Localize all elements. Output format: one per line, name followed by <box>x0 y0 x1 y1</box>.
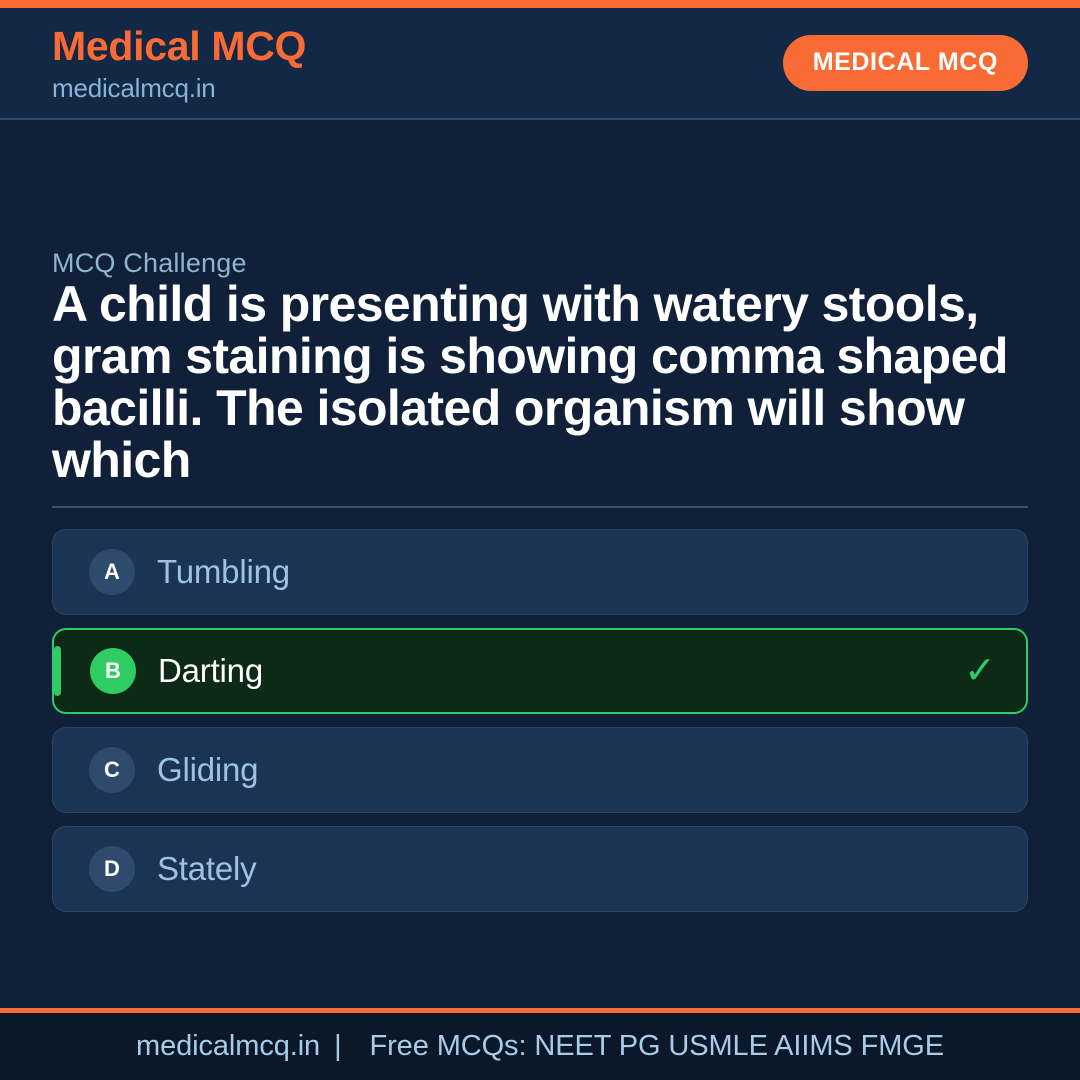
option-b-letter: B <box>90 648 136 694</box>
options-list: A Tumbling B Darting ✓ C Gliding D State… <box>52 529 1028 912</box>
footer: medicalmcq.in|Free MCQs: NEET PG USMLE A… <box>0 1008 1080 1080</box>
option-c-label: Gliding <box>157 751 258 789</box>
option-d[interactable]: D Stately <box>52 826 1028 912</box>
option-b[interactable]: B Darting ✓ <box>52 628 1028 714</box>
question-text: A child is presenting with watery stools… <box>52 278 1032 486</box>
correct-accent-bar <box>54 646 61 696</box>
brand-subtitle: medicalmcq.in <box>52 75 306 101</box>
option-d-label: Stately <box>157 850 257 888</box>
option-a-label: Tumbling <box>157 553 290 591</box>
brand-title: Medical MCQ <box>52 26 306 67</box>
mcq-card: Medical MCQ medicalmcq.in MEDICAL MCQ MC… <box>0 0 1080 1080</box>
footer-site: medicalmcq.in <box>136 1030 320 1062</box>
option-d-letter: D <box>89 846 135 892</box>
brand-badge: MEDICAL MCQ <box>783 35 1028 91</box>
footer-text: medicalmcq.in|Free MCQs: NEET PG USMLE A… <box>136 1030 944 1063</box>
option-b-label: Darting <box>158 652 263 690</box>
option-c[interactable]: C Gliding <box>52 727 1028 813</box>
question-divider <box>52 506 1028 508</box>
footer-separator: | <box>320 1030 355 1062</box>
option-a-letter: A <box>89 549 135 595</box>
top-accent-bar <box>0 0 1080 8</box>
footer-tagline: Free MCQs: NEET PG USMLE AIIMS FMGE <box>356 1030 944 1062</box>
option-c-letter: C <box>89 747 135 793</box>
main-content: MCQ Challenge A child is presenting with… <box>0 120 1080 1008</box>
brand: Medical MCQ medicalmcq.in <box>52 26 306 101</box>
header: Medical MCQ medicalmcq.in MEDICAL MCQ <box>0 8 1080 120</box>
section-kicker: MCQ Challenge <box>52 248 247 279</box>
option-a[interactable]: A Tumbling <box>52 529 1028 615</box>
check-icon: ✓ <box>964 652 996 690</box>
